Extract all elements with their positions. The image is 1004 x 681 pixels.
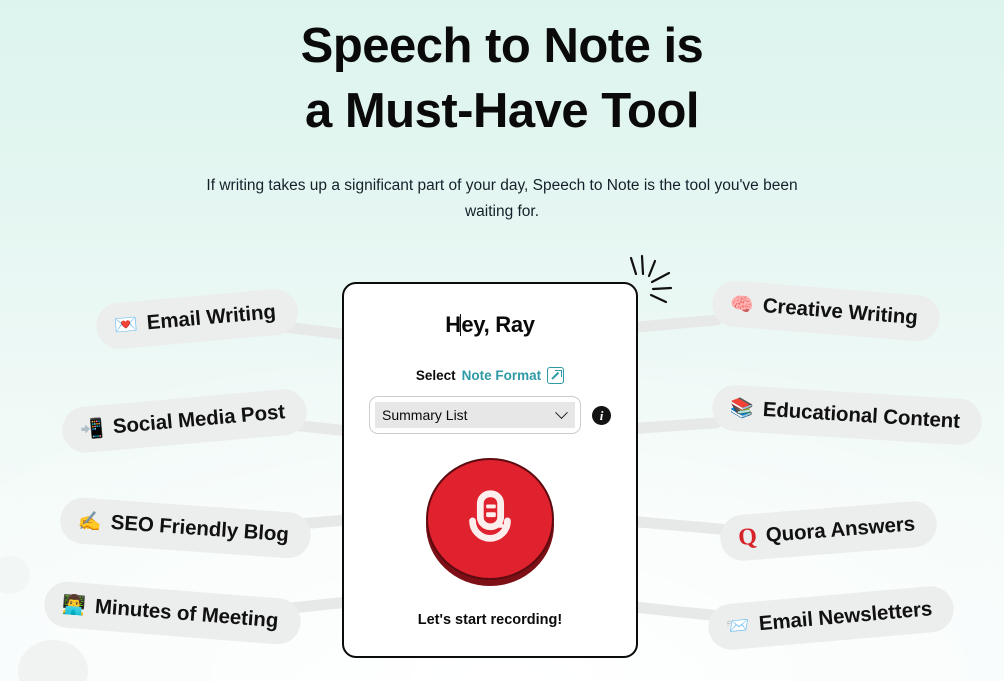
pill-minutes-of-meeting[interactable]: 👨‍💻 Minutes of Meeting [43, 580, 302, 646]
note-format-select[interactable]: Summary List [369, 396, 581, 434]
microphone-note-icon [459, 488, 521, 550]
pill-seo-friendly-blog[interactable]: ✍️ SEO Friendly Blog [59, 496, 313, 559]
mobile-phone-emoji-icon: 📲 [80, 419, 105, 440]
pill-label: Email Writing [146, 300, 277, 335]
greeting-rest: ey, Ray [461, 312, 534, 337]
page-title-line-2: a Must-Have Tool [0, 79, 1004, 144]
pill-label: Minutes of Meeting [94, 595, 279, 633]
writing-hand-emoji-icon: ✍️ [78, 511, 103, 532]
note-format-selected-value: Summary List [382, 407, 468, 423]
books-emoji-icon: 📚 [730, 398, 755, 418]
hero-header: Speech to Note is a Must-Have Tool If wr… [0, 0, 1004, 224]
greeting-first-char: H [445, 312, 461, 337]
connector-line [632, 516, 728, 535]
record-button-wrap [426, 458, 554, 586]
note-format-select-inner[interactable]: Summary List [375, 402, 575, 428]
pill-label: SEO Friendly Blog [110, 511, 290, 547]
quora-logo-icon: Q [737, 525, 757, 550]
pill-quora-answers[interactable]: Q Quora Answers [719, 500, 939, 563]
love-letter-emoji-icon: 💌 [113, 315, 138, 336]
pill-email-writing[interactable]: 💌 Email Writing [94, 287, 299, 350]
record-prompt-text: Let's start recording! [418, 612, 562, 628]
page-subtitle: If writing takes up a significant part o… [192, 173, 812, 224]
page-title: Speech to Note is a Must-Have Tool [0, 14, 1004, 143]
greeting-heading: Hey, Ray [445, 312, 534, 338]
pill-educational-content[interactable]: 📚 Educational Content [711, 384, 983, 446]
pill-label: Educational Content [762, 398, 961, 434]
pill-label: Creative Writing [762, 294, 919, 330]
page-root: Speech to Note is a Must-Have Tool If wr… [0, 0, 1004, 681]
pill-social-media-post[interactable]: 📲 Social Media Post [60, 387, 308, 454]
brain-emoji-icon: 🧠 [730, 294, 755, 315]
background-blob [0, 556, 30, 594]
info-icon[interactable]: i [592, 406, 611, 425]
pill-creative-writing[interactable]: 🧠 Creative Writing [711, 279, 942, 343]
chevron-down-icon [555, 406, 568, 419]
technologist-emoji-icon: 👨‍💻 [62, 595, 87, 616]
incoming-envelope-emoji-icon: 📨 [726, 616, 751, 637]
pill-label: Social Media Post [112, 400, 286, 439]
recorder-card: Hey, Ray Select Note Format Summary List… [342, 282, 638, 658]
record-button[interactable] [426, 458, 554, 580]
external-link-icon[interactable] [547, 367, 564, 384]
page-title-line-1: Speech to Note is [0, 14, 1004, 79]
note-format-row: Summary List i [369, 396, 611, 434]
pill-email-newsletters[interactable]: 📨 Email Newsletters [706, 584, 956, 651]
note-format-link[interactable]: Note Format [462, 368, 542, 383]
sparkle-burst-icon [622, 252, 678, 304]
select-label-prefix: Select [416, 368, 456, 383]
pill-label: Email Newsletters [758, 597, 933, 636]
pill-label: Quora Answers [765, 512, 916, 548]
background-blob [18, 640, 88, 681]
connector-line [632, 314, 723, 333]
select-note-format-label: Select Note Format [416, 367, 564, 384]
connector-line [632, 417, 723, 434]
